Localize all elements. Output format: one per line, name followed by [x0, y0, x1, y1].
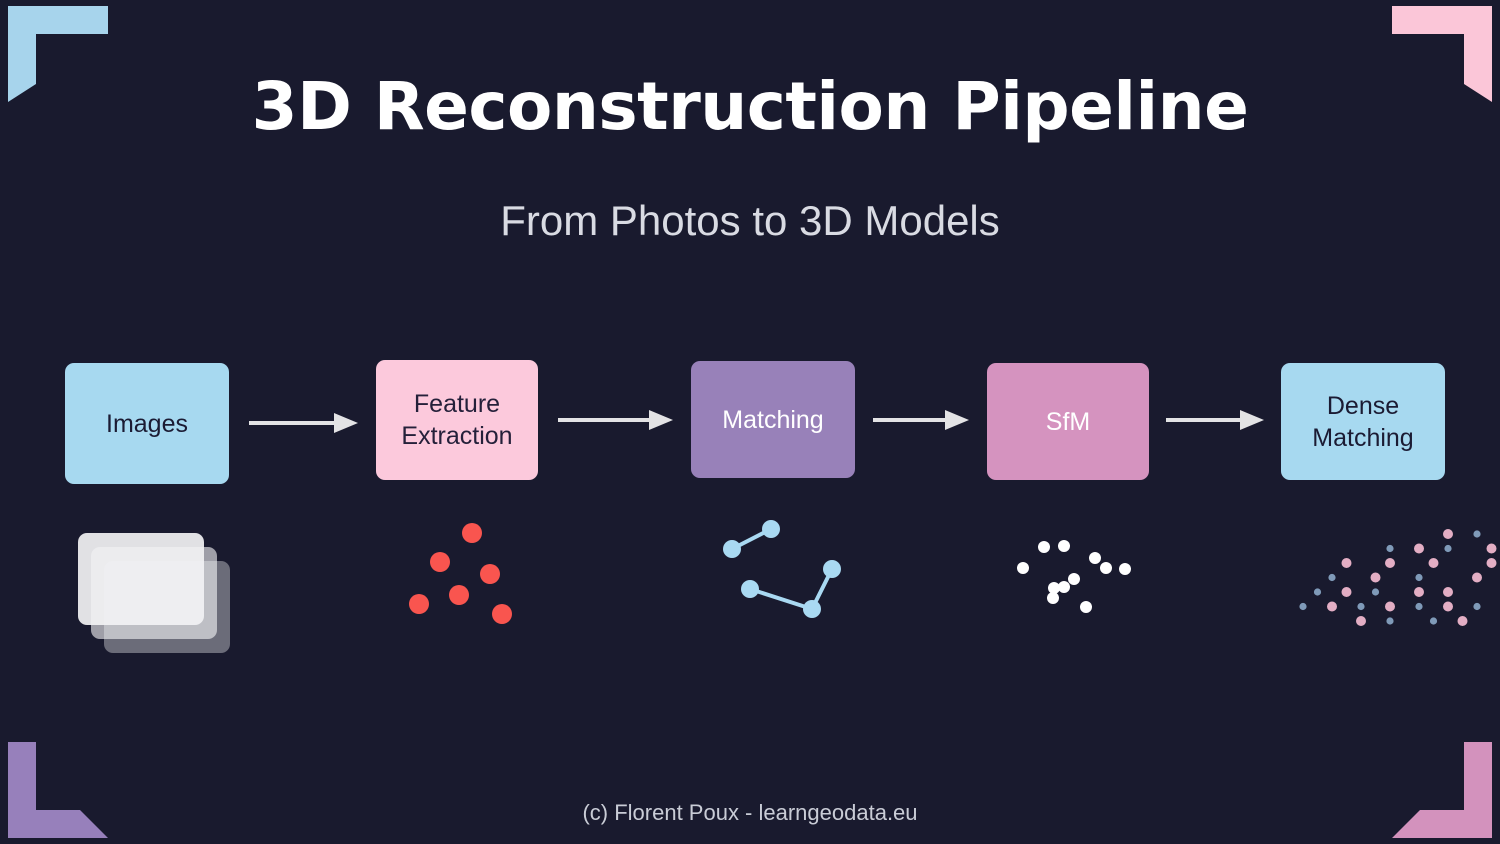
pipeline-diagram: ImagesFeature ExtractionMatchingSfMDense… — [0, 0, 1500, 844]
dense-cloud-icon — [0, 0, 1500, 844]
slide-canvas: 3D Reconstruction Pipeline From Photos t… — [0, 0, 1500, 844]
footer-credit: (c) Florent Poux - learngeodata.eu — [0, 802, 1500, 824]
